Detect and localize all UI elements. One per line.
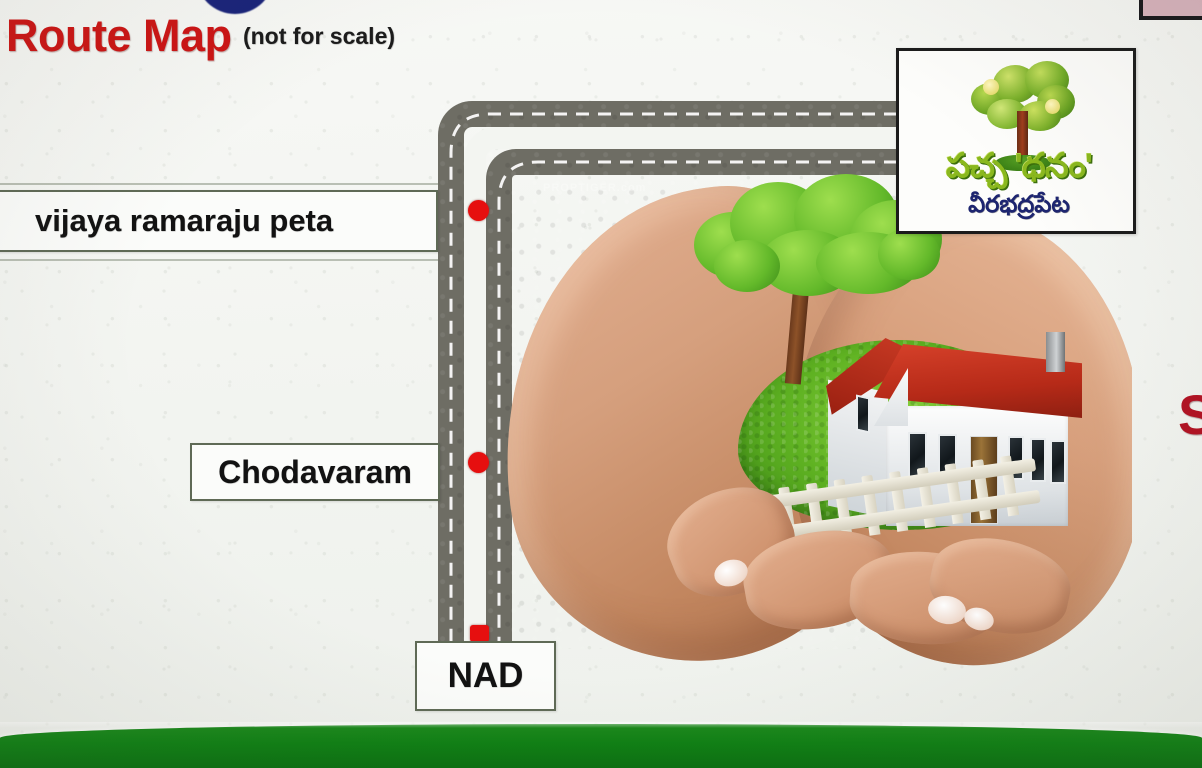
house-in-hands-photo [492,172,1132,687]
route-map-poster: Route Map (not for scale) [0,0,1202,768]
watermark-text: PROPTIGER.com [543,182,646,194]
map-marker-nad[interactable] [470,625,489,642]
brand-logo-card: పచ్చ 'ధనం' వీరభద్రపేట [896,48,1136,234]
house-window [856,395,870,434]
house-window [1050,440,1066,484]
label-vijaya-ramaraju-peta[interactable]: vijaya ramaraju peta [0,190,438,252]
label-text: Chodavaram [218,454,412,491]
brand-place-telugu: వీరభద్రపేట [899,191,1136,224]
label-text: vijaya ramaraju peta [35,203,333,239]
partial-letter-s: S [1178,382,1202,447]
brand-name-telugu: పచ్చ 'ధనం' [899,147,1136,194]
green-footer-band [0,724,1202,768]
label-text: NAD [448,656,524,696]
map-marker-vijaya-ramaraju-peta[interactable] [468,200,489,221]
label-nad[interactable]: NAD [415,641,556,711]
pink-box-decoration [1139,0,1202,20]
house-chimney [1046,332,1065,372]
tree-icon [971,59,1075,155]
map-marker-chodavaram[interactable] [468,452,489,473]
label-chodavaram[interactable]: Chodavaram [190,443,440,501]
